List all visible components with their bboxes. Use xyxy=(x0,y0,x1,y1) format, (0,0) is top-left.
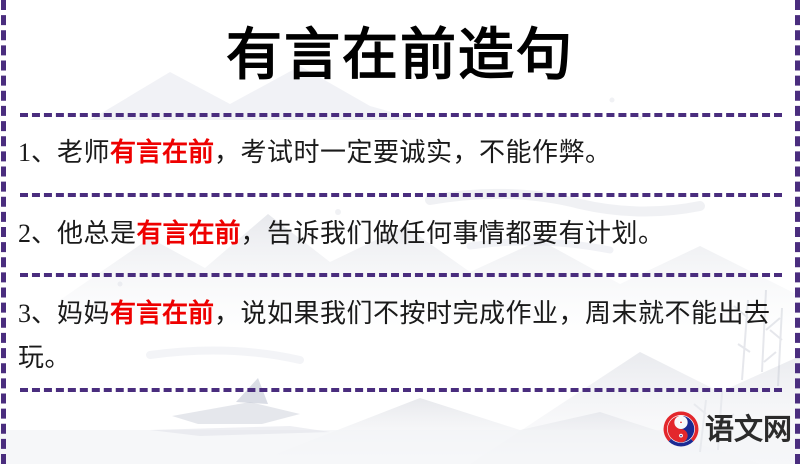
yinyang-fish-logo-icon xyxy=(662,410,700,448)
site-logo-text: 语文网 xyxy=(705,415,792,444)
sentence-prefix-3: 妈妈 xyxy=(57,299,110,328)
site-logo: 语文网 xyxy=(662,408,792,450)
sentence-number-1: 1、 xyxy=(18,138,57,167)
keyword-highlight-3: 有言在前 xyxy=(110,299,214,328)
sentence-number-3: 3、 xyxy=(18,299,57,328)
keyword-highlight-1: 有言在前 xyxy=(110,138,214,167)
worksheet-page: 有言在前造句 1、老师有言在前，考试时一定要诚实，不能作弊。 2、他总是有言在前… xyxy=(0,0,800,464)
sentence-prefix-1: 老师 xyxy=(57,138,110,167)
sentence-suffix-1: ，考试时一定要诚实，不能作弊。 xyxy=(214,138,612,167)
page-title: 有言在前造句 xyxy=(0,18,800,92)
separator-after-sentence-2 xyxy=(20,273,782,277)
sentence-item-1: 1、老师有言在前，考试时一定要诚实，不能作弊。 xyxy=(18,131,786,175)
sentence-suffix-2: ，告诉我们做任何事情都要有计划。 xyxy=(241,219,665,248)
keyword-highlight-2: 有言在前 xyxy=(137,219,241,248)
separator-under-title xyxy=(20,113,782,117)
separator-after-sentence-3 xyxy=(20,388,782,392)
sentence-number-2: 2、 xyxy=(18,219,57,248)
sentence-prefix-2: 他总是 xyxy=(57,219,137,248)
sentence-item-3: 3、妈妈有言在前，说如果我们不按时完成作业，周末就不能出去玩。 xyxy=(18,292,786,380)
sentence-item-2: 2、他总是有言在前，告诉我们做任何事情都要有计划。 xyxy=(18,212,786,256)
separator-after-sentence-1 xyxy=(20,193,782,197)
